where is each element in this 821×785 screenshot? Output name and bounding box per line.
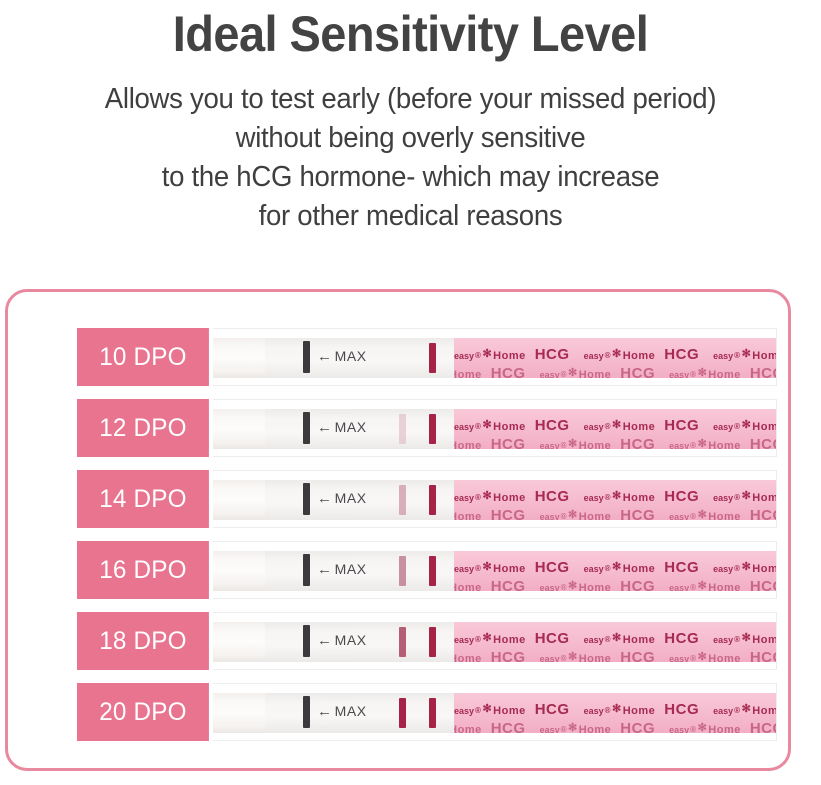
- brand-easy-text: easy: [454, 706, 474, 716]
- brand-hcg-text: HCG: [620, 436, 655, 449]
- brand-home-text: Home: [454, 582, 482, 591]
- control-line-12: [429, 414, 436, 444]
- brand-unit: easy®✻HomeHCG: [584, 701, 700, 718]
- flower-icon: ✻: [698, 437, 708, 449]
- arrow-left-icon: ←: [317, 419, 333, 436]
- brand-home-text: Home: [708, 511, 741, 520]
- registered-icon: ®: [605, 706, 611, 715]
- branding-row-bottom: easy®✻HomeHCGeasy®✻HomeHCGeasy®✻HomeHCGe…: [454, 649, 776, 662]
- brand-easy-text: easy: [584, 635, 604, 645]
- brand-hcg-text: HCG: [664, 346, 699, 363]
- strip-faint-top-text: · · · ·: [321, 410, 350, 417]
- registered-icon: ®: [605, 493, 611, 502]
- brand-easy-text: easy: [669, 441, 689, 449]
- branding-row-bottom: easy®✻HomeHCGeasy®✻HomeHCGeasy®✻HomeHCGe…: [454, 507, 776, 520]
- registered-icon: ®: [690, 725, 696, 733]
- brand-hcg-text: HCG: [664, 701, 699, 718]
- dpo-label-14: 14 DPO: [77, 470, 209, 528]
- brand-unit: easy®✻HomeHCG: [584, 417, 700, 434]
- test-strip-panel: 10 DPO· · · ·←MAX· · · ·easy®✻HomeHCGeas…: [5, 289, 791, 771]
- flower-icon: ✻: [568, 437, 578, 449]
- max-marker-label: ←MAX: [317, 349, 367, 364]
- strip-faint-bottom-text: · · · ·: [321, 369, 350, 376]
- brand-hcg-text: HCG: [664, 488, 699, 505]
- dpo-label-12: 12 DPO: [77, 399, 209, 457]
- registered-icon: ®: [734, 564, 740, 573]
- strip-branding-tail: easy®✻HomeHCGeasy®✻HomeHCGeasy®✻HomeHCGe…: [454, 693, 776, 733]
- brand-hcg-text: HCG: [620, 507, 655, 520]
- flower-icon: ✻: [742, 347, 752, 360]
- page-header: Ideal Sensitivity Level Allows you to te…: [0, 0, 821, 237]
- flower-icon: ✻: [482, 631, 492, 644]
- brand-home-text: Home: [752, 563, 776, 575]
- subtitle-line-3: to the hCG hormone- which may increase: [21, 158, 801, 197]
- registered-icon: ®: [605, 351, 611, 360]
- branding-row-top: easy®✻HomeHCGeasy®✻HomeHCGeasy®✻HomeHCGe…: [454, 417, 776, 434]
- brand-hcg-text: HCG: [620, 649, 655, 662]
- brand-easy-text: easy: [669, 370, 689, 378]
- max-tick-icon: [303, 625, 310, 657]
- brand-easy-text: easy: [540, 441, 560, 449]
- branding-row-top: easy®✻HomeHCGeasy®✻HomeHCGeasy®✻HomeHCGe…: [454, 488, 776, 505]
- registered-icon: ®: [605, 422, 611, 431]
- max-marker-label: ←MAX: [317, 704, 367, 719]
- brand-home-text: Home: [752, 705, 776, 717]
- brand-easy-text: easy: [713, 706, 733, 716]
- brand-unit: easy®✻HomeHCG: [713, 559, 776, 576]
- max-marker-label: ←MAX: [317, 491, 367, 506]
- brand-home-text: Home: [579, 511, 612, 520]
- brand-hcg-text: HCG: [535, 488, 570, 505]
- brand-unit: easy®✻HomeHCG: [540, 365, 656, 378]
- brand-unit: easy®✻HomeHCG: [713, 346, 776, 363]
- brand-home-text: Home: [579, 724, 612, 733]
- test-strip-row: 16 DPO· · · ·←MAX· · · ·easy®✻HomeHCGeas…: [77, 541, 777, 599]
- arrow-left-icon: ←: [317, 632, 333, 649]
- brand-easy-text: easy: [669, 583, 689, 591]
- brand-unit: easy®✻HomeHCG: [540, 578, 656, 591]
- brand-easy-text: easy: [713, 564, 733, 574]
- brand-home-text: Home: [493, 350, 526, 362]
- brand-hcg-text: HCG: [535, 346, 570, 363]
- flower-icon: ✻: [742, 560, 752, 573]
- strip-faint-top-text: · · · ·: [321, 552, 350, 559]
- registered-icon: ®: [561, 725, 567, 733]
- brand-hcg-text: HCG: [664, 417, 699, 434]
- brand-hcg-text: HCG: [491, 436, 526, 449]
- brand-unit: easy®✻HomeHCG: [584, 346, 700, 363]
- brand-hcg-text: HCG: [535, 701, 570, 718]
- brand-home-text: Home: [752, 492, 776, 504]
- dpo-label-20: 20 DPO: [77, 683, 209, 741]
- max-tick-icon: [303, 341, 310, 373]
- brand-home-text: Home: [708, 724, 741, 733]
- flower-icon: ✻: [568, 650, 578, 662]
- arrow-left-icon: ←: [317, 490, 333, 507]
- brand-unit: easy®✻HomeHCG: [454, 630, 570, 647]
- flower-icon: ✻: [612, 489, 622, 502]
- brand-easy-text: easy: [584, 422, 604, 432]
- brand-hcg-text: HCG: [535, 630, 570, 647]
- brand-hcg-text: HCG: [535, 417, 570, 434]
- brand-unit: easy®✻HomeHCG: [584, 630, 700, 647]
- flower-icon: ✻: [612, 631, 622, 644]
- registered-icon: ®: [475, 706, 481, 715]
- brand-easy-text: easy: [713, 493, 733, 503]
- flower-icon: ✻: [742, 702, 752, 715]
- test-strip-list: 10 DPO· · · ·←MAX· · · ·easy®✻HomeHCGeas…: [77, 328, 777, 741]
- brand-unit: easy®✻HomeHCG: [540, 720, 656, 733]
- brand-hcg-text: HCG: [491, 578, 526, 591]
- brand-home-text: Home: [623, 350, 656, 362]
- registered-icon: ®: [605, 635, 611, 644]
- page-subtitle: Allows you to test early (before your mi…: [21, 80, 801, 237]
- brand-easy-text: easy: [454, 635, 474, 645]
- brand-easy-text: easy: [584, 351, 604, 361]
- flower-icon: ✻: [568, 366, 578, 378]
- branding-row-bottom: easy®✻HomeHCGeasy®✻HomeHCGeasy®✻HomeHCGe…: [454, 578, 776, 591]
- test-line-14: [399, 485, 406, 515]
- brand-unit: easy®✻HomeHCG: [454, 417, 570, 434]
- control-line-10: [429, 343, 436, 373]
- brand-home-text: Home: [454, 440, 482, 449]
- brand-hcg-text: HCG: [491, 649, 526, 662]
- registered-icon: ®: [605, 564, 611, 573]
- test-strip-row: 10 DPO· · · ·←MAX· · · ·easy®✻HomeHCGeas…: [77, 328, 777, 386]
- flower-icon: ✻: [568, 721, 578, 733]
- test-strip-16: · · · ·←MAX· · · ·easy®✻HomeHCGeasy®✻Hom…: [213, 541, 777, 599]
- test-strip-20: · · · ·←MAX· · · ·easy®✻HomeHCGeasy®✻Hom…: [213, 683, 777, 741]
- subtitle-line-1: Allows you to test early (before your mi…: [21, 80, 801, 119]
- test-strip-row: 18 DPO· · · ·←MAX· · · ·easy®✻HomeHCGeas…: [77, 612, 777, 670]
- arrow-left-icon: ←: [317, 348, 333, 365]
- brand-hcg-text: HCG: [620, 578, 655, 591]
- branding-row-top: easy®✻HomeHCGeasy®✻HomeHCGeasy®✻HomeHCGe…: [454, 559, 776, 576]
- registered-icon: ®: [690, 441, 696, 449]
- brand-home-text: Home: [454, 511, 482, 520]
- flower-icon: ✻: [482, 489, 492, 502]
- flower-icon: ✻: [698, 366, 708, 378]
- max-tick-icon: [303, 483, 310, 515]
- flower-icon: ✻: [612, 560, 622, 573]
- flower-icon: ✻: [612, 418, 622, 431]
- registered-icon: ®: [475, 635, 481, 644]
- brand-hcg-text: HCG: [491, 365, 526, 378]
- branding-row-top: easy®✻HomeHCGeasy®✻HomeHCGeasy®✻HomeHCGe…: [454, 346, 776, 363]
- brand-home-text: Home: [493, 634, 526, 646]
- brand-hcg-text: HCG: [750, 649, 776, 662]
- brand-home-text: Home: [708, 440, 741, 449]
- branding-row-top: easy®✻HomeHCGeasy®✻HomeHCGeasy®✻HomeHCGe…: [454, 701, 776, 718]
- brand-unit: easy®✻HomeHCG: [713, 488, 776, 505]
- brand-easy-text: easy: [669, 654, 689, 662]
- brand-unit: easy®✻HomeHCG: [669, 720, 776, 733]
- branding-row-bottom: easy®✻HomeHCGeasy®✻HomeHCGeasy®✻HomeHCGe…: [454, 436, 776, 449]
- registered-icon: ®: [475, 564, 481, 573]
- strip-faint-bottom-text: · · · ·: [321, 582, 350, 589]
- max-tick-icon: [303, 412, 310, 444]
- strip-faint-top-text: · · · ·: [321, 694, 350, 701]
- brand-hcg-text: HCG: [664, 630, 699, 647]
- brand-home-text: Home: [579, 582, 612, 591]
- brand-home-text: Home: [493, 492, 526, 504]
- strip-faint-bottom-text: · · · ·: [321, 724, 350, 731]
- brand-easy-text: easy: [540, 512, 560, 520]
- brand-hcg-text: HCG: [750, 507, 776, 520]
- strip-branding-tail: easy®✻HomeHCGeasy®✻HomeHCGeasy®✻HomeHCGe…: [454, 480, 776, 520]
- brand-unit: easy®✻HomeHCG: [454, 720, 526, 733]
- subtitle-line-4: for other medical reasons: [21, 197, 801, 236]
- brand-hcg-text: HCG: [491, 720, 526, 733]
- brand-hcg-text: HCG: [750, 365, 776, 378]
- brand-unit: easy®✻HomeHCG: [669, 649, 776, 662]
- test-strip-10: · · · ·←MAX· · · ·easy®✻HomeHCGeasy®✻Hom…: [213, 328, 777, 386]
- registered-icon: ®: [734, 706, 740, 715]
- brand-unit: easy®✻HomeHCG: [669, 436, 776, 449]
- brand-unit: easy®✻HomeHCG: [669, 507, 776, 520]
- registered-icon: ®: [475, 422, 481, 431]
- brand-easy-text: easy: [540, 725, 560, 733]
- brand-easy-text: easy: [669, 512, 689, 520]
- brand-unit: easy®✻HomeHCG: [713, 417, 776, 434]
- brand-home-text: Home: [752, 421, 776, 433]
- brand-home-text: Home: [454, 724, 482, 733]
- brand-home-text: Home: [623, 421, 656, 433]
- control-line-14: [429, 485, 436, 515]
- flower-icon: ✻: [482, 702, 492, 715]
- brand-unit: easy®✻HomeHCG: [540, 649, 656, 662]
- test-strip-row: 20 DPO· · · ·←MAX· · · ·easy®✻HomeHCGeas…: [77, 683, 777, 741]
- test-line-12: [399, 414, 406, 444]
- registered-icon: ®: [734, 635, 740, 644]
- max-tick-icon: [303, 696, 310, 728]
- brand-easy-text: easy: [584, 493, 604, 503]
- registered-icon: ®: [561, 370, 567, 378]
- brand-easy-text: easy: [713, 422, 733, 432]
- registered-icon: ®: [734, 493, 740, 502]
- strip-faint-bottom-text: · · · ·: [321, 511, 350, 518]
- brand-hcg-text: HCG: [750, 720, 776, 733]
- strip-faint-top-text: · · · ·: [321, 481, 350, 488]
- brand-home-text: Home: [579, 653, 612, 662]
- strip-faint-bottom-text: · · · ·: [321, 440, 350, 447]
- registered-icon: ®: [690, 583, 696, 591]
- registered-icon: ®: [734, 422, 740, 431]
- brand-unit: easy®✻HomeHCG: [540, 507, 656, 520]
- flower-icon: ✻: [698, 579, 708, 591]
- test-strip-row: 12 DPO· · · ·←MAX· · · ·easy®✻HomeHCGeas…: [77, 399, 777, 457]
- brand-easy-text: easy: [713, 351, 733, 361]
- brand-hcg-text: HCG: [620, 720, 655, 733]
- arrow-left-icon: ←: [317, 703, 333, 720]
- flower-icon: ✻: [698, 721, 708, 733]
- control-line-16: [429, 556, 436, 586]
- brand-unit: easy®✻HomeHCG: [454, 649, 526, 662]
- brand-home-text: Home: [752, 350, 776, 362]
- brand-home-text: Home: [708, 653, 741, 662]
- brand-easy-text: easy: [540, 654, 560, 662]
- branding-row-top: easy®✻HomeHCGeasy®✻HomeHCGeasy®✻HomeHCGe…: [454, 630, 776, 647]
- test-line-10: [399, 343, 406, 373]
- flower-icon: ✻: [742, 489, 752, 502]
- brand-hcg-text: HCG: [664, 559, 699, 576]
- brand-hcg-text: HCG: [620, 365, 655, 378]
- registered-icon: ®: [561, 654, 567, 662]
- strip-branding-tail: easy®✻HomeHCGeasy®✻HomeHCGeasy®✻HomeHCGe…: [454, 551, 776, 591]
- brand-home-text: Home: [493, 705, 526, 717]
- subtitle-line-2: without being overly sensitive: [21, 119, 801, 158]
- flower-icon: ✻: [698, 508, 708, 520]
- max-marker-label: ←MAX: [317, 420, 367, 435]
- brand-home-text: Home: [579, 369, 612, 378]
- brand-hcg-text: HCG: [535, 559, 570, 576]
- registered-icon: ®: [690, 654, 696, 662]
- brand-unit: easy®✻HomeHCG: [584, 559, 700, 576]
- registered-icon: ®: [475, 493, 481, 502]
- brand-unit: easy®✻HomeHCG: [454, 559, 570, 576]
- strip-branding-tail: easy®✻HomeHCGeasy®✻HomeHCGeasy®✻HomeHCGe…: [454, 622, 776, 662]
- brand-easy-text: easy: [454, 422, 474, 432]
- brand-home-text: Home: [623, 705, 656, 717]
- flower-icon: ✻: [482, 560, 492, 573]
- dpo-label-16: 16 DPO: [77, 541, 209, 599]
- registered-icon: ®: [690, 370, 696, 378]
- strip-faint-top-text: · · · ·: [321, 623, 350, 630]
- brand-hcg-text: HCG: [750, 436, 776, 449]
- flower-icon: ✻: [612, 347, 622, 360]
- brand-easy-text: easy: [454, 564, 474, 574]
- registered-icon: ®: [561, 583, 567, 591]
- flower-icon: ✻: [568, 579, 578, 591]
- brand-unit: easy®✻HomeHCG: [454, 578, 526, 591]
- brand-unit: easy®✻HomeHCG: [540, 436, 656, 449]
- brand-unit: easy®✻HomeHCG: [454, 488, 570, 505]
- page-title: Ideal Sensitivity Level: [25, 6, 797, 64]
- branding-row-bottom: easy®✻HomeHCGeasy®✻HomeHCGeasy®✻HomeHCGe…: [454, 720, 776, 733]
- brand-home-text: Home: [454, 369, 482, 378]
- brand-unit: easy®✻HomeHCG: [454, 365, 526, 378]
- strip-branding-tail: easy®✻HomeHCGeasy®✻HomeHCGeasy®✻HomeHCGe…: [454, 338, 776, 378]
- brand-home-text: Home: [623, 634, 656, 646]
- brand-hcg-text: HCG: [491, 507, 526, 520]
- registered-icon: ®: [561, 441, 567, 449]
- brand-easy-text: easy: [540, 583, 560, 591]
- registered-icon: ®: [475, 351, 481, 360]
- dpo-label-10: 10 DPO: [77, 328, 209, 386]
- brand-home-text: Home: [493, 421, 526, 433]
- flower-icon: ✻: [742, 631, 752, 644]
- max-marker-label: ←MAX: [317, 562, 367, 577]
- flower-icon: ✻: [482, 418, 492, 431]
- control-line-18: [429, 627, 436, 657]
- brand-home-text: Home: [623, 492, 656, 504]
- brand-home-text: Home: [579, 440, 612, 449]
- test-line-18: [399, 627, 406, 657]
- max-tick-icon: [303, 554, 310, 586]
- brand-home-text: Home: [454, 653, 482, 662]
- test-strip-14: · · · ·←MAX· · · ·easy®✻HomeHCGeasy®✻Hom…: [213, 470, 777, 528]
- brand-home-text: Home: [708, 369, 741, 378]
- brand-home-text: Home: [493, 563, 526, 575]
- flower-icon: ✻: [698, 650, 708, 662]
- dpo-label-18: 18 DPO: [77, 612, 209, 670]
- brand-easy-text: easy: [669, 725, 689, 733]
- brand-easy-text: easy: [584, 706, 604, 716]
- branding-row-bottom: easy®✻HomeHCGeasy®✻HomeHCGeasy®✻HomeHCGe…: [454, 365, 776, 378]
- flower-icon: ✻: [482, 347, 492, 360]
- test-line-20: [399, 698, 406, 728]
- brand-unit: easy®✻HomeHCG: [669, 365, 776, 378]
- brand-unit: easy®✻HomeHCG: [454, 701, 570, 718]
- registered-icon: ®: [561, 512, 567, 520]
- brand-easy-text: easy: [454, 493, 474, 503]
- brand-unit: easy®✻HomeHCG: [454, 346, 570, 363]
- registered-icon: ®: [734, 351, 740, 360]
- brand-easy-text: easy: [540, 370, 560, 378]
- flower-icon: ✻: [742, 418, 752, 431]
- brand-unit: easy®✻HomeHCG: [454, 436, 526, 449]
- flower-icon: ✻: [568, 508, 578, 520]
- brand-easy-text: easy: [584, 564, 604, 574]
- brand-home-text: Home: [752, 634, 776, 646]
- test-strip-18: · · · ·←MAX· · · ·easy®✻HomeHCGeasy®✻Hom…: [213, 612, 777, 670]
- brand-unit: easy®✻HomeHCG: [454, 507, 526, 520]
- brand-hcg-text: HCG: [750, 578, 776, 591]
- brand-easy-text: easy: [713, 635, 733, 645]
- test-strip-row: 14 DPO· · · ·←MAX· · · ·easy®✻HomeHCGeas…: [77, 470, 777, 528]
- strip-faint-bottom-text: · · · ·: [321, 653, 350, 660]
- brand-unit: easy®✻HomeHCG: [584, 488, 700, 505]
- arrow-left-icon: ←: [317, 561, 333, 578]
- brand-unit: easy®✻HomeHCG: [669, 578, 776, 591]
- max-marker-label: ←MAX: [317, 633, 367, 648]
- brand-unit: easy®✻HomeHCG: [713, 701, 776, 718]
- brand-home-text: Home: [623, 563, 656, 575]
- test-strip-12: · · · ·←MAX· · · ·easy®✻HomeHCGeasy®✻Hom…: [213, 399, 777, 457]
- strip-branding-tail: easy®✻HomeHCGeasy®✻HomeHCGeasy®✻HomeHCGe…: [454, 409, 776, 449]
- strip-faint-top-text: · · · ·: [321, 339, 350, 346]
- brand-home-text: Home: [708, 582, 741, 591]
- registered-icon: ®: [690, 512, 696, 520]
- brand-unit: easy®✻HomeHCG: [713, 630, 776, 647]
- flower-icon: ✻: [612, 702, 622, 715]
- control-line-20: [429, 698, 436, 728]
- test-line-16: [399, 556, 406, 586]
- brand-easy-text: easy: [454, 351, 474, 361]
